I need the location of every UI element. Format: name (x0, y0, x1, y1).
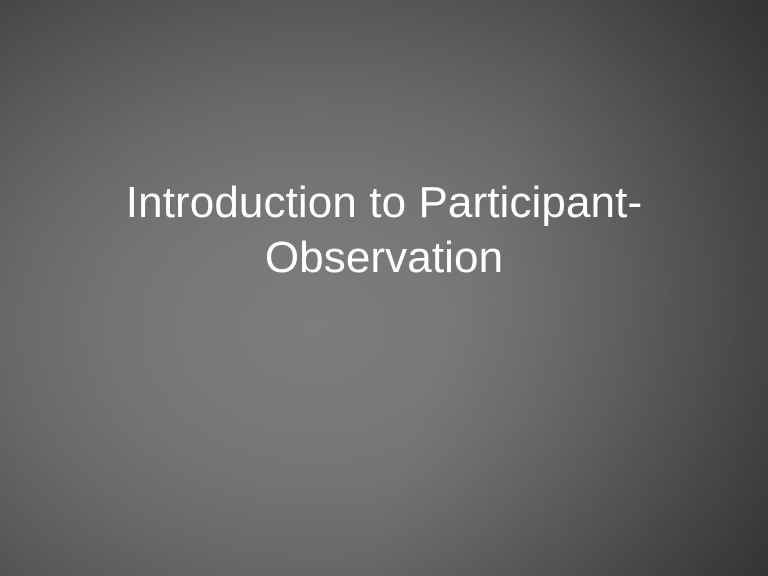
presentation-slide: Introduction to Participant- Observation (0, 0, 768, 576)
slide-title-line-1: Introduction to Participant- (78, 175, 690, 230)
slide-title: Introduction to Participant- Observation (78, 175, 690, 285)
slide-title-line-2: Observation (78, 230, 690, 285)
slide-background (0, 0, 768, 576)
